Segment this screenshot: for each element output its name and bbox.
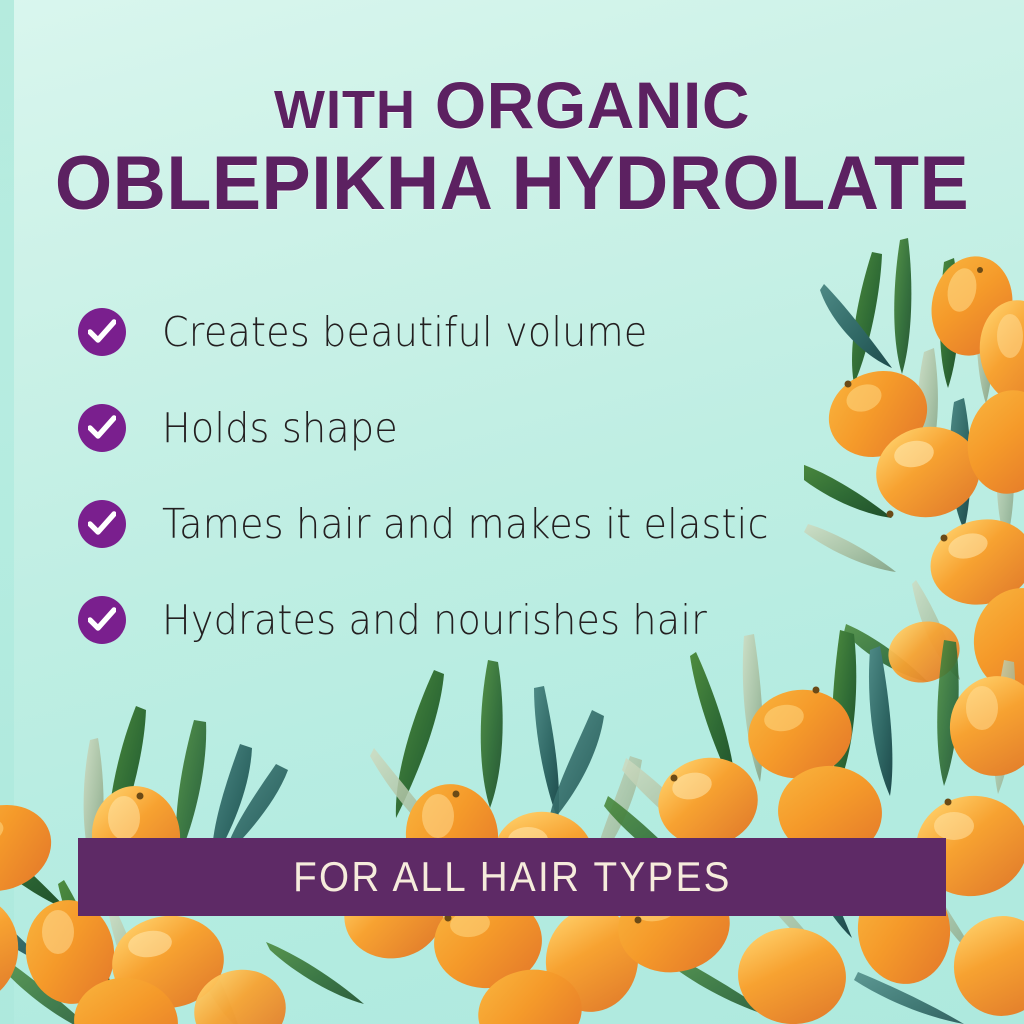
list-item: Hydrates and nourishes hair (78, 572, 908, 668)
list-item: Creates beautiful volume (78, 284, 908, 380)
sea-buckthorn-branch-bottom-right (604, 630, 1024, 1024)
check-circle-icon (78, 596, 126, 644)
hair-types-banner: FOR ALL HAIR TYPES (78, 838, 946, 916)
benefits-list: Creates beautiful volume Holds shape Tam… (78, 284, 908, 668)
leaf-group-bottom-center (370, 660, 660, 1004)
benefit-label: Holds shape (162, 408, 398, 449)
headline-line-2: OBLEPIKHA HYDROLATE (43, 145, 982, 223)
headline-block: WITH ORGANIC OBLEPIKHA HYDROLATE (0, 72, 1024, 223)
benefit-label: Tames hair and makes it elastic (162, 504, 769, 545)
check-circle-icon (78, 308, 126, 356)
headline-prefix: WITH (274, 80, 416, 140)
check-circle-icon (78, 404, 126, 452)
list-item: Holds shape (78, 380, 908, 476)
leaf-group-bottom-right (604, 630, 1015, 1024)
product-feature-graphic: WITH ORGANIC OBLEPIKHA HYDROLATE Creates… (0, 0, 1024, 1024)
benefit-label: Creates beautiful volume (162, 312, 647, 353)
benefit-label: Hydrates and nourishes hair (162, 600, 707, 641)
check-circle-icon (78, 500, 126, 548)
list-item: Tames hair and makes it elastic (78, 476, 908, 572)
headline-line-1: WITH ORGANIC (28, 72, 996, 139)
headline-emphasis: ORGANIC (435, 68, 750, 142)
banner-label: FOR ALL HAIR TYPES (293, 853, 732, 901)
